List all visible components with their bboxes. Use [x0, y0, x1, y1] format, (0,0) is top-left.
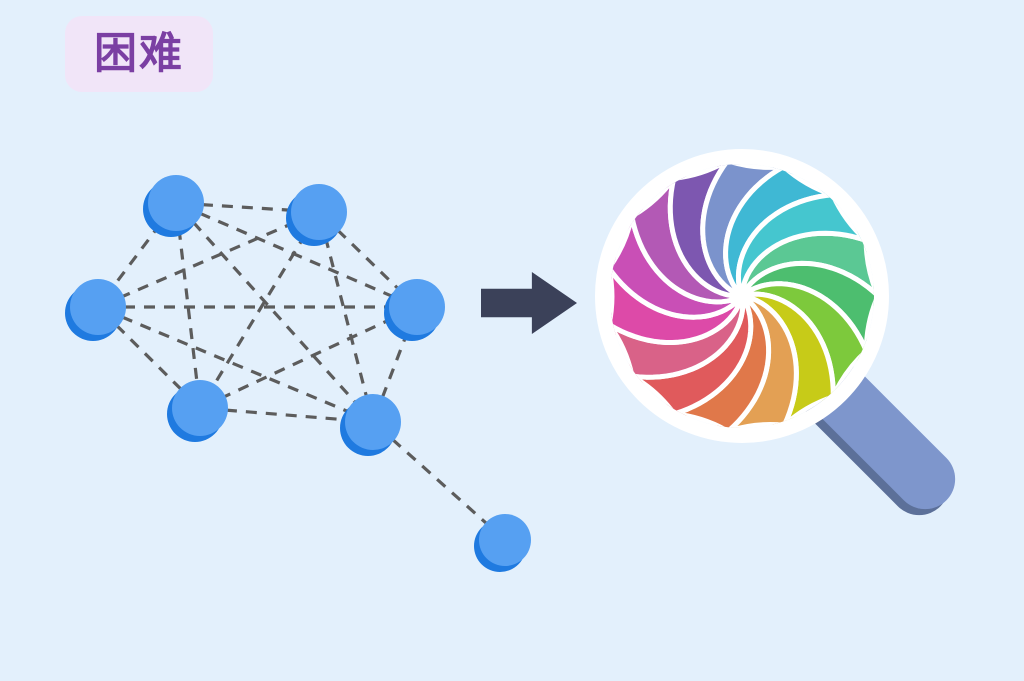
magnifier-handle-body	[839, 393, 925, 479]
graph-edge	[122, 222, 295, 296]
graph-edge	[116, 325, 181, 389]
scene-svg	[0, 0, 1024, 681]
graph-edge	[325, 237, 366, 397]
magnifier-icon	[603, 157, 926, 486]
graph-node	[345, 394, 401, 450]
difficulty-badge-label: 困难	[94, 33, 184, 76]
graph-node-group	[65, 175, 531, 572]
graph-edge-group	[114, 205, 488, 524]
graph-edge	[193, 222, 355, 402]
graph-node	[70, 279, 126, 335]
arrow-right-icon	[481, 272, 577, 334]
arrow-shape	[481, 272, 577, 334]
graph-edge	[213, 234, 305, 386]
graph-node	[291, 184, 347, 240]
difficulty-badge: 困难	[65, 16, 213, 92]
graph-edge	[382, 331, 407, 397]
graph-edge	[122, 317, 349, 412]
graph-edge	[338, 230, 399, 289]
graph-node	[479, 514, 531, 566]
magnifier-handle	[833, 393, 925, 485]
graph-node	[148, 175, 204, 231]
graph-edge	[202, 205, 293, 211]
graph-edge	[114, 224, 161, 286]
graph-node	[172, 380, 228, 436]
graph-edge	[224, 318, 394, 397]
graph-node	[389, 279, 445, 335]
graph-edge	[392, 439, 487, 524]
graph-edge	[226, 410, 347, 420]
illustration-canvas: 困难	[0, 0, 1024, 681]
